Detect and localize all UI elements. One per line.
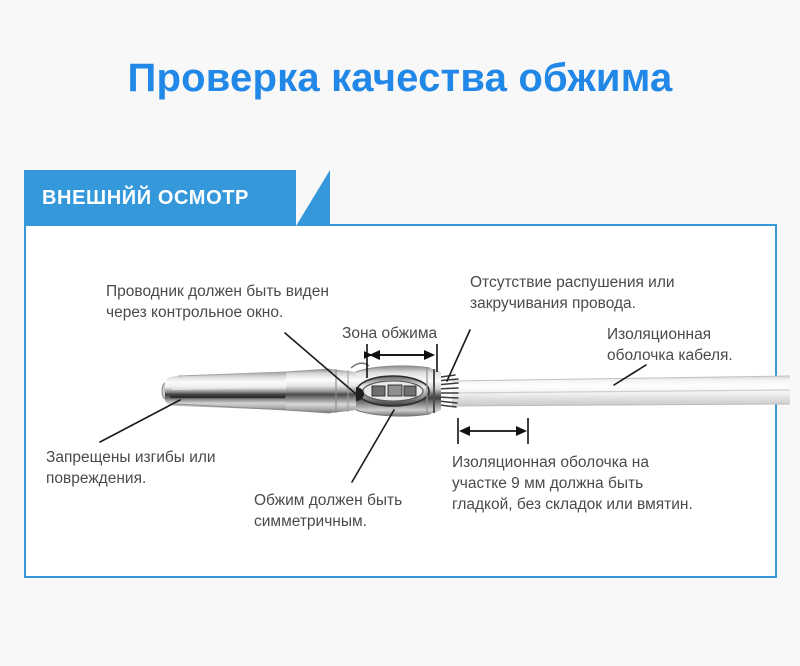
section-tab-slant-decoration bbox=[296, 170, 330, 226]
annotation-no-fraying: Отсутствие распушения или закручивания п… bbox=[470, 272, 675, 314]
annotation-conductor-window: Проводник должен быть виден через контро… bbox=[106, 281, 329, 323]
annotation-symmetric-crimp: Обжим должен быть симметричным. bbox=[254, 490, 402, 532]
section-tab-label: ВНЕШНЙЙ ОСМОТР bbox=[42, 170, 249, 226]
annotation-cable-jacket: Изоляционная оболочка кабеля. bbox=[607, 324, 733, 366]
annotation-crimp-zone: Зона обжима bbox=[342, 323, 437, 344]
slide-root: Проверка качества обжима ВНЕШНЙЙ ОСМОТР … bbox=[0, 0, 800, 666]
panel-top-edge bbox=[324, 224, 777, 226]
page-title: Проверка качества обжима bbox=[0, 56, 800, 101]
section-tab: ВНЕШНЙЙ ОСМОТР bbox=[24, 170, 324, 226]
annotation-smooth-jacket: Изоляционная оболочка на участке 9 мм до… bbox=[452, 452, 693, 515]
annotation-no-bends: Запрещены изгибы или повреждения. bbox=[46, 447, 216, 489]
